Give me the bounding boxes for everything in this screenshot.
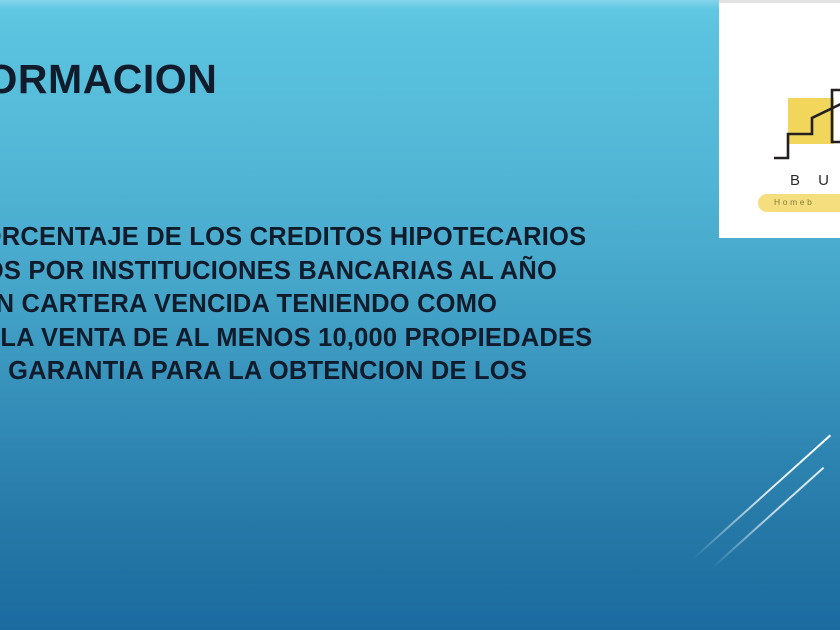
presentation-slide: INFORMACION LTO PORCENTAJE DE LOS CREDIT… bbox=[0, 0, 840, 630]
body-line: INAN EN CARTERA VENCIDA TENIENDO COMO bbox=[0, 288, 738, 322]
diagonal-streak-decoration bbox=[711, 467, 824, 569]
diagonal-streak-decoration bbox=[692, 434, 831, 559]
top-sheen-decoration bbox=[0, 0, 840, 9]
body-line: TAS EN GARANTIA PARA LA OBTENCION DE LOS bbox=[0, 355, 738, 389]
body-line: LTO PORCENTAJE DE LOS CREDITOS HIPOTECAR… bbox=[0, 221, 738, 255]
house-stairs-mark-icon bbox=[774, 88, 840, 170]
logo-tagline: Homeb bbox=[774, 197, 814, 207]
page-title: INFORMACION bbox=[0, 57, 618, 102]
logo-wordmark: B U bbox=[790, 172, 836, 189]
body-line: RGADOS POR INSTITUCIONES BANCARIAS AL AÑ… bbox=[0, 255, 738, 289]
body-paragraph: LTO PORCENTAJE DE LOS CREDITOS HIPOTECAR… bbox=[0, 221, 738, 422]
logo-panel: B U Homeb bbox=[719, 0, 840, 238]
body-line: DITOS. bbox=[0, 389, 738, 423]
body-line: LTADO LA VENTA DE AL MENOS 10,000 PROPIE… bbox=[0, 322, 738, 356]
